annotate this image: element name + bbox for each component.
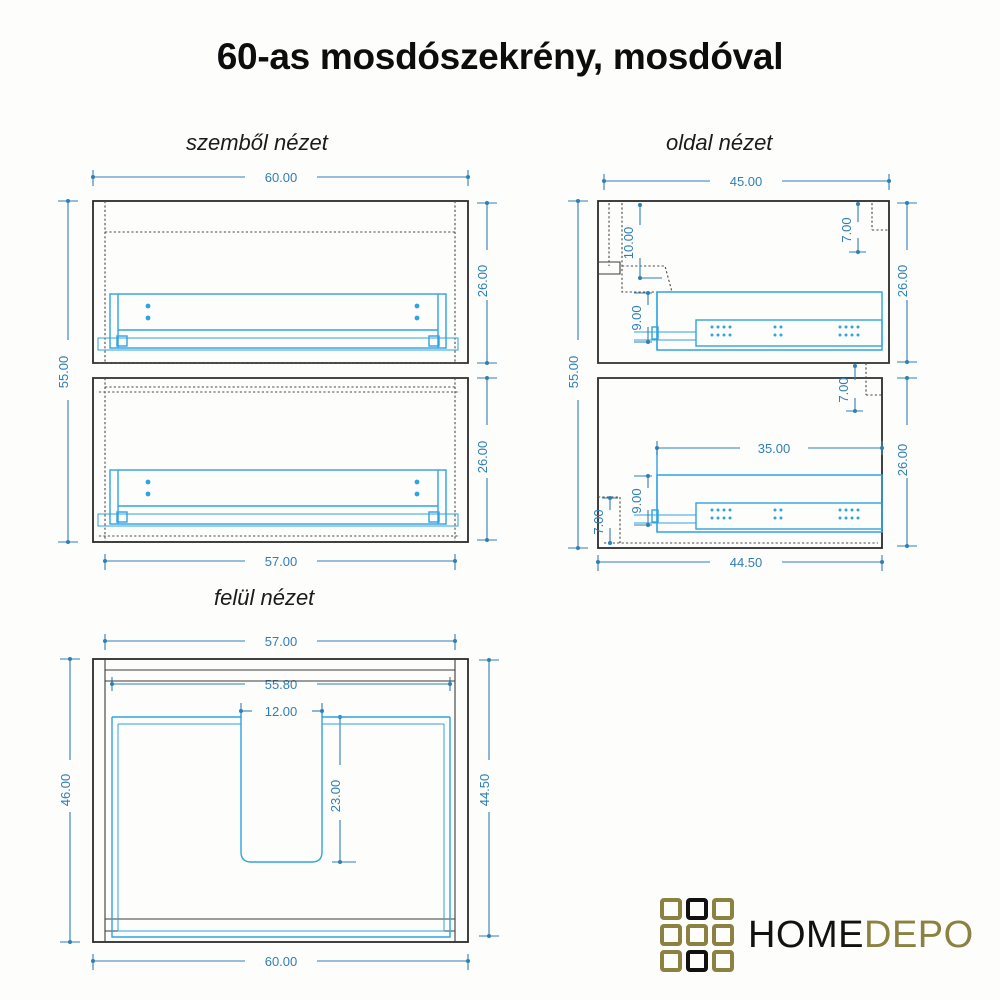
side-drawer-lower: 35.00 9.00: [629, 441, 884, 532]
top-dim-depth-inner: 44.50: [477, 658, 499, 938]
logo-cell: [686, 898, 708, 920]
front-hidden-lines: [99, 201, 460, 542]
logo-text-home: HOME: [748, 914, 864, 956]
logo-cell: [686, 950, 708, 972]
svg-text:23.00: 23.00: [328, 780, 343, 813]
svg-text:55.80: 55.80: [265, 677, 298, 692]
side-wall-bracket-top: 10.00: [598, 203, 672, 292]
side-dim-inset-bottom-left: 7.00: [591, 496, 620, 545]
svg-text:35.00: 35.00: [758, 441, 791, 456]
top-dim-cutout-width: 12.00: [239, 703, 324, 719]
svg-text:26.00: 26.00: [895, 444, 910, 477]
top-dim-depth-outer: 46.00: [58, 657, 80, 944]
svg-text:12.00: 12.00: [265, 704, 298, 719]
top-view-group: 57.00 55.80 12.00: [58, 634, 499, 970]
front-cabinet-outline: [93, 201, 468, 542]
svg-text:55.00: 55.00: [566, 356, 581, 389]
svg-text:46.00: 46.00: [58, 774, 73, 807]
side-dim-height-total: 55.00: [566, 199, 588, 550]
logo-grid-icon: [660, 898, 734, 972]
top-dim-cutout-depth: 23.00: [328, 715, 356, 864]
svg-text:55.00: 55.00: [56, 356, 71, 389]
side-dim-inset-top-right: 7.00: [839, 202, 889, 254]
homedepo-logo[interactable]: HOMEDEPO: [660, 898, 974, 972]
front-drawer-lower: [98, 470, 458, 526]
drawing-canvas: .dim { stroke:#2f7fb5; stroke-width:1.1;…: [0, 0, 1000, 1000]
top-dim-width-inner: 57.00: [103, 634, 457, 650]
top-cabinet-outline: [93, 659, 468, 942]
logo-cell: [660, 924, 682, 946]
side-dim-box-upper: 26.00: [895, 201, 917, 364]
side-dim-box-lower: 26.00: [895, 376, 917, 548]
side-dim-inset-middle: 7.00: [836, 363, 882, 413]
top-dim-width-outer: 60.00: [91, 954, 470, 970]
svg-text:26.00: 26.00: [475, 441, 490, 474]
svg-text:7.00: 7.00: [836, 377, 851, 402]
svg-text:9.00: 9.00: [629, 488, 644, 513]
svg-text:7.00: 7.00: [839, 217, 854, 242]
logo-cell: [712, 898, 734, 920]
side-view-group: 45.00 55.00 44.50: [566, 174, 917, 571]
top-dim-width-basin: 55.80: [110, 677, 452, 692]
front-dim-drawer-lower: 26.00: [475, 376, 497, 542]
front-view-group: 60.00 55.00 26.00: [56, 170, 497, 570]
front-dim-height-total: 55.00: [56, 199, 78, 544]
side-dim-depth-bottom: 44.50: [596, 555, 884, 571]
svg-text:60.00: 60.00: [265, 954, 298, 969]
svg-text:26.00: 26.00: [475, 265, 490, 298]
logo-cell: [686, 924, 708, 946]
svg-text:44.50: 44.50: [477, 774, 492, 807]
svg-text:7.00: 7.00: [591, 509, 606, 534]
logo-cell: [660, 898, 682, 920]
svg-text:26.00: 26.00: [895, 265, 910, 298]
front-drawer-upper: [98, 294, 458, 350]
side-dim-depth-top: 45.00: [602, 174, 891, 190]
front-dim-width-top: 60.00: [91, 170, 470, 186]
logo-wordmark: HOMEDEPO: [748, 916, 974, 954]
logo-cell: [660, 950, 682, 972]
svg-text:60.00: 60.00: [265, 170, 298, 185]
top-basin-outline: [112, 717, 450, 937]
svg-text:45.00: 45.00: [730, 174, 763, 189]
svg-text:57.00: 57.00: [265, 634, 298, 649]
svg-text:57.00: 57.00: [265, 554, 298, 569]
svg-text:9.00: 9.00: [629, 305, 644, 330]
svg-text:44.50: 44.50: [730, 555, 763, 570]
svg-text:10.00: 10.00: [621, 227, 636, 260]
side-drawer-upper: 9.00: [629, 291, 882, 350]
front-dim-drawer-upper: 26.00: [475, 201, 497, 365]
logo-text-depo: DEPO: [864, 914, 974, 956]
logo-cell: [712, 924, 734, 946]
top-sink-cutout: [241, 713, 322, 862]
logo-cell: [712, 950, 734, 972]
technical-drawing-page: 60-as mosdószekrény, mosdóval szemből né…: [0, 0, 1000, 1000]
front-dim-width-bottom: 57.00: [103, 554, 457, 570]
